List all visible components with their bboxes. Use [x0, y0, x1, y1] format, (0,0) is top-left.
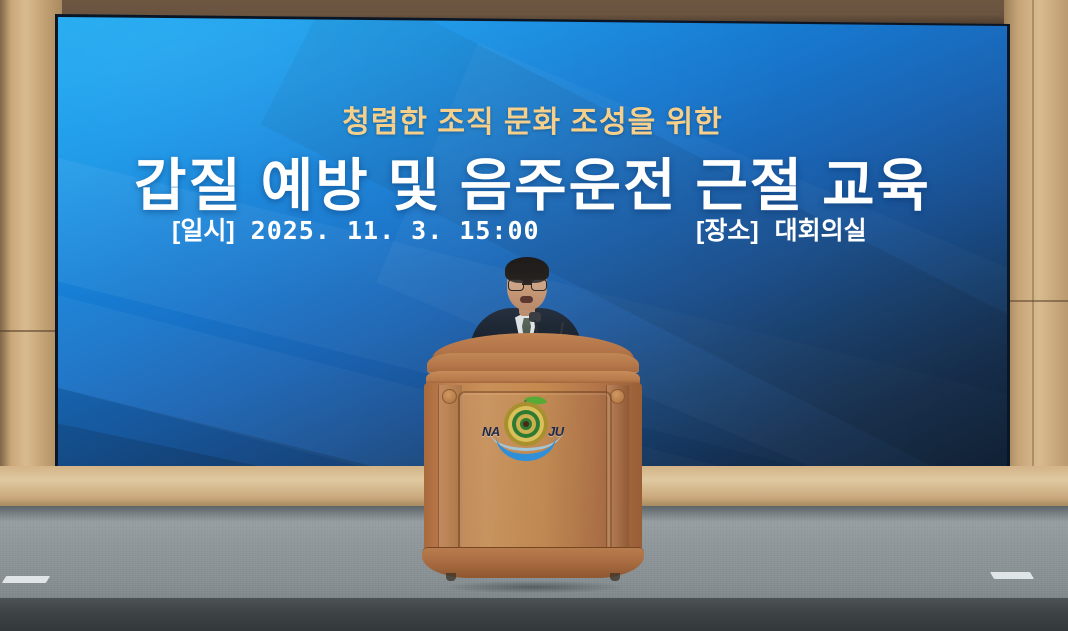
podium-rosette-right — [610, 389, 625, 404]
podium-rosette-left — [442, 389, 457, 404]
podium-top-panel — [427, 353, 639, 373]
slide-subtitle: 청렴한 조직 문화 조성을 위한 — [58, 97, 1007, 141]
slide-title: 갑질 예방 및 음주운전 근절 교육 — [58, 140, 1007, 222]
photo-scene: 청렴한 조직 문화 조성을 위한 갑질 예방 및 음주운전 근절 교육 [일시]… — [0, 0, 1068, 631]
emblem-swoosh — [496, 436, 556, 461]
presenter-glasses-bridge — [522, 283, 531, 285]
slide-place: [장소] 대회의실 — [696, 211, 867, 247]
slide-place-value: 대회의실 — [775, 211, 867, 247]
slide-date-value: 2025. 11. 3. 15:00 — [251, 216, 540, 245]
podium-caster-left — [446, 573, 456, 581]
podium — [424, 333, 642, 593]
slide-meta: [일시] 2025. 11. 3. 15:00 [장소] 대회의실 — [58, 211, 1007, 245]
stage-front-edge — [0, 598, 1068, 631]
emblem-ring-center — [523, 421, 529, 427]
presenter-mouth — [520, 296, 533, 303]
slide-date-label: [일시] — [172, 211, 235, 247]
slide-datetime: [일시] 2025. 11. 3. 15:00 — [172, 211, 540, 247]
floor-marker-right — [990, 572, 1034, 579]
right-wall-seam — [1004, 300, 1068, 302]
presenter-glasses-left-lens — [508, 279, 524, 291]
naju-city-emblem: NA JU — [476, 396, 576, 458]
left-wall-seam — [0, 330, 62, 332]
floor-marker-left — [2, 576, 50, 583]
presenter-glasses-right-lens — [531, 279, 547, 291]
slide-place-label: [장소] — [696, 211, 759, 247]
podium-caster-right — [610, 573, 620, 581]
